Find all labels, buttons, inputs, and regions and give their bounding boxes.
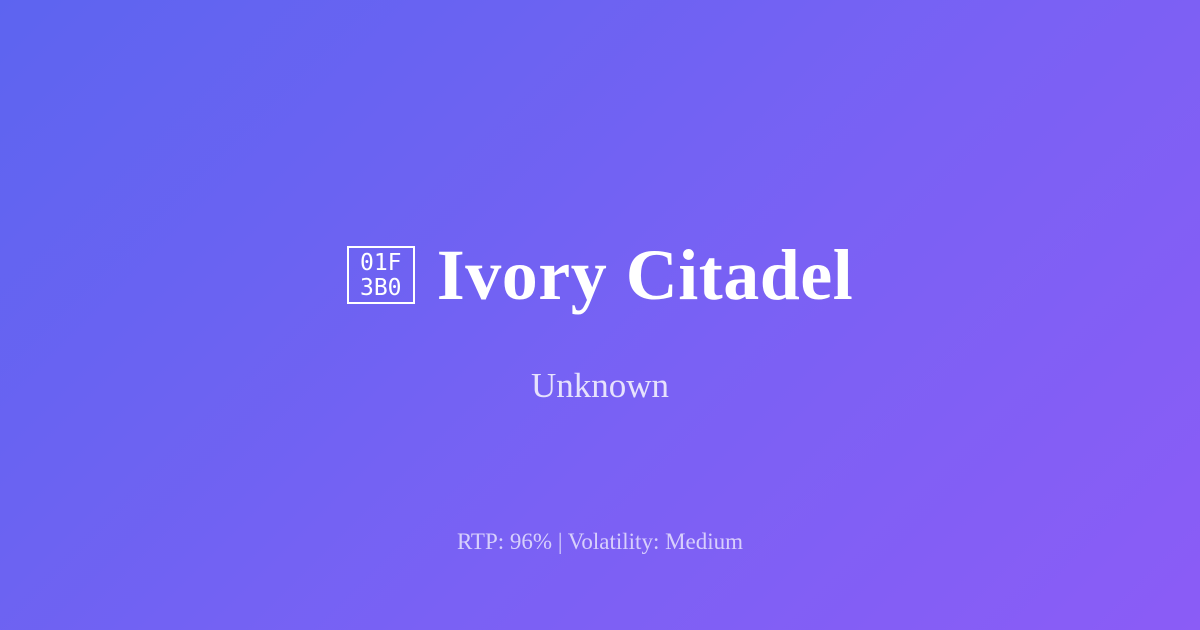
page-title: Ivory Citadel (437, 234, 853, 316)
game-preview-card: 01F 3B0 Ivory Citadel Unknown RTP: 96% |… (0, 0, 1200, 630)
slot-machine-icon: 01F 3B0 (347, 246, 415, 304)
slot-machine-icon-codepoint-lower: 3B0 (360, 276, 402, 301)
provider-label: Unknown (0, 365, 1200, 407)
game-stats: RTP: 96% | Volatility: Medium (0, 528, 1200, 556)
title-row: 01F 3B0 Ivory Citadel (0, 232, 1200, 318)
slot-machine-icon-codepoint-upper: 01F (360, 251, 402, 276)
